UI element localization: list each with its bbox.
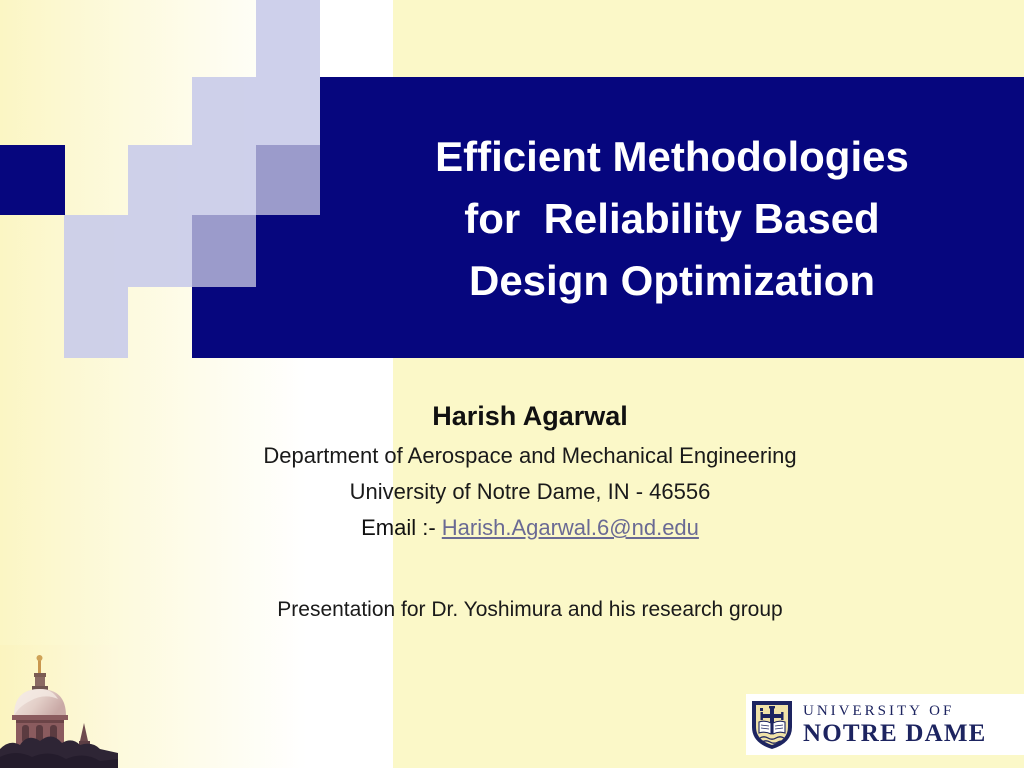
notre-dame-shield-icon bbox=[750, 699, 794, 751]
notre-dame-logo: UNIVERSITY OF NOTRE DAME bbox=[746, 694, 1024, 755]
tile-1 bbox=[256, 0, 320, 77]
golden-dome-photo bbox=[0, 645, 118, 768]
title-line-3: Design Optimization bbox=[330, 250, 1014, 312]
logo-line-notre-dame: NOTRE DAME bbox=[803, 720, 987, 747]
golden-dome-illustration bbox=[0, 645, 118, 768]
presentation-slide: Efficient Methodologies for Reliability … bbox=[0, 0, 1024, 768]
navy-accent-chip bbox=[0, 145, 65, 215]
university-line: University of Notre Dame, IN - 46556 bbox=[130, 474, 930, 510]
tile-8 bbox=[64, 287, 128, 358]
email-label: Email :- bbox=[361, 515, 442, 540]
title-line-2: for Reliability Based bbox=[330, 188, 1014, 250]
author-info-block: Harish Agarwal Department of Aerospace a… bbox=[130, 398, 930, 546]
tile-2 bbox=[192, 77, 256, 145]
author-name: Harish Agarwal bbox=[130, 398, 930, 434]
email-line: Email :- Harish.Agarwal.6@nd.edu bbox=[130, 510, 930, 546]
tile-5 bbox=[192, 145, 256, 215]
tile-7 bbox=[128, 215, 192, 287]
tile-10 bbox=[192, 215, 256, 287]
tile-4 bbox=[128, 145, 192, 215]
tile-6 bbox=[64, 215, 128, 287]
tile-9 bbox=[256, 145, 320, 215]
logo-line-university-of: UNIVERSITY OF bbox=[803, 703, 987, 720]
department-line: Department of Aerospace and Mechanical E… bbox=[130, 438, 930, 474]
presentation-note: Presentation for Dr. Yoshimura and his r… bbox=[130, 595, 930, 625]
tile-3 bbox=[256, 77, 320, 145]
logo-wordmark: UNIVERSITY OF NOTRE DAME bbox=[803, 703, 987, 747]
title-line-1: Efficient Methodologies bbox=[330, 126, 1014, 188]
page-title: Efficient Methodologies for Reliability … bbox=[330, 126, 1014, 312]
email-link[interactable]: Harish.Agarwal.6@nd.edu bbox=[442, 515, 699, 540]
